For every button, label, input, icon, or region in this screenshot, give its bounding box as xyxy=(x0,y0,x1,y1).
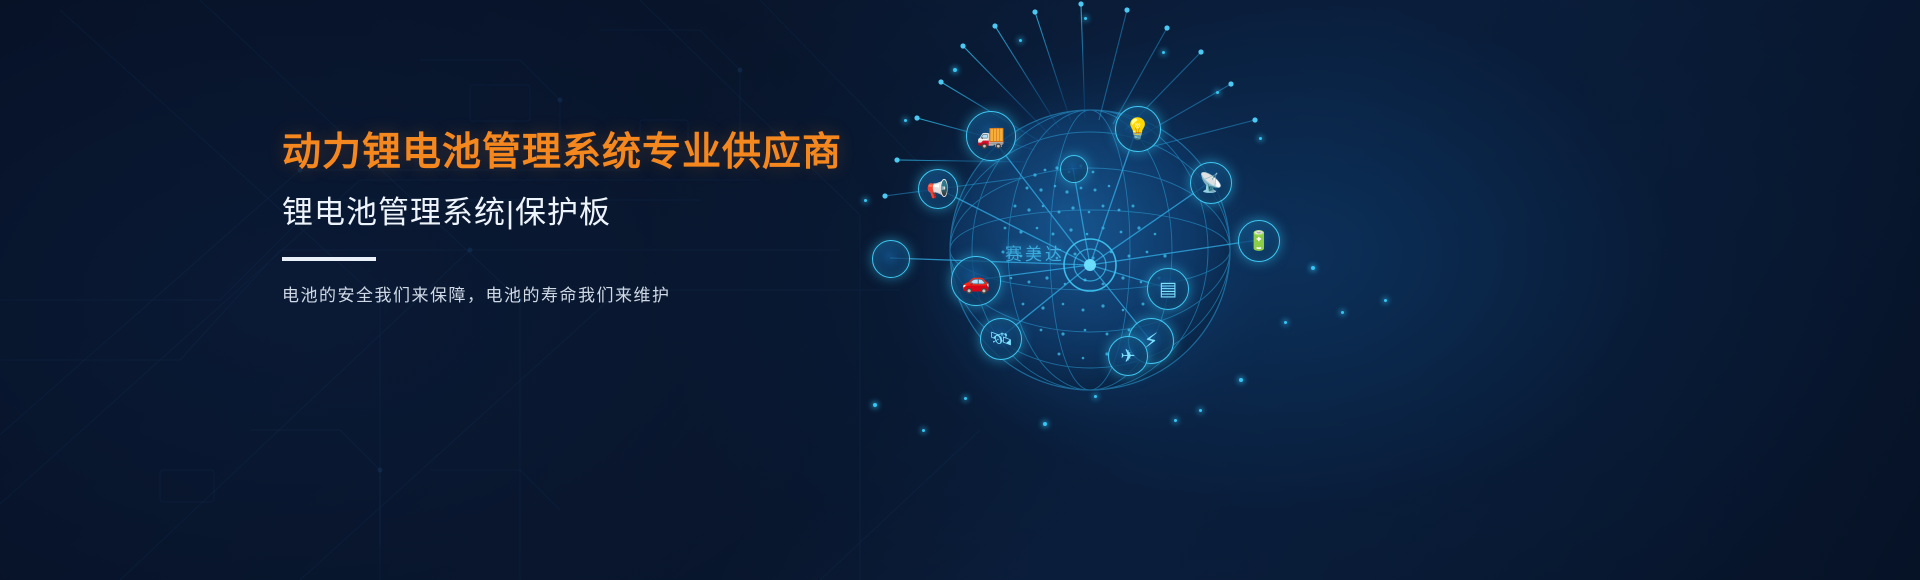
particle-dot xyxy=(1094,395,1097,398)
particle-dot xyxy=(1162,51,1165,54)
particle-dot xyxy=(864,199,867,202)
network-globe-illustration: 赛美达 🚚💡📡📢🔋🚗▤🛰⚡✈ xyxy=(845,0,1405,470)
particle-dot xyxy=(1174,419,1177,422)
particle-dot xyxy=(922,429,925,432)
globe-icon-layer: 🚚💡📡📢🔋🚗▤🛰⚡✈ xyxy=(845,0,1405,470)
particle-dot xyxy=(1311,266,1315,270)
drone-icon: ✈ xyxy=(1108,336,1148,376)
hero-banner: 动力锂电池管理系统专业供应商 锂电池管理系统|保护板 电池的安全我们来保障，电池… xyxy=(0,0,1920,580)
particle-dot xyxy=(1084,17,1087,20)
hero-subheadline: 锂电池管理系统|保护板 xyxy=(282,195,922,231)
satellite-icon: 📡 xyxy=(1190,162,1232,204)
battery-icon: 🔋 xyxy=(1238,220,1280,262)
car-icon: 🚗 xyxy=(951,256,1001,306)
particle-dot xyxy=(1259,137,1262,140)
particle-dot xyxy=(904,119,907,122)
particle-dot xyxy=(1384,299,1387,302)
particle-dot xyxy=(1284,321,1287,324)
particle-dot xyxy=(1216,91,1219,94)
particle-dot xyxy=(964,397,967,400)
hero-tagline: 电池的安全我们来保障，电池的寿命我们来维护 xyxy=(282,283,922,309)
hero-headline: 动力锂电池管理系统专业供应商 xyxy=(282,132,922,175)
particle-dot xyxy=(1199,409,1202,412)
rocket-icon: 🛰 xyxy=(980,318,1022,360)
node-small-icon xyxy=(1060,155,1088,183)
particle-dot xyxy=(1019,39,1022,42)
hero-text-block: 动力锂电池管理系统专业供应商 锂电池管理系统|保护板 电池的安全我们来保障，电池… xyxy=(282,132,922,308)
node-empty-icon xyxy=(872,240,910,278)
particle-dot xyxy=(953,68,957,72)
particle-dot xyxy=(1239,378,1243,382)
hero-divider xyxy=(282,257,376,261)
lightbulb-icon: 💡 xyxy=(1115,106,1161,152)
truck-icon: 🚚 xyxy=(966,111,1016,161)
server-icon: ▤ xyxy=(1147,268,1189,310)
wifi-icon: 📢 xyxy=(918,169,958,209)
particle-dot xyxy=(1341,311,1344,314)
particle-dot xyxy=(873,403,877,407)
particle-dot xyxy=(1043,422,1047,426)
